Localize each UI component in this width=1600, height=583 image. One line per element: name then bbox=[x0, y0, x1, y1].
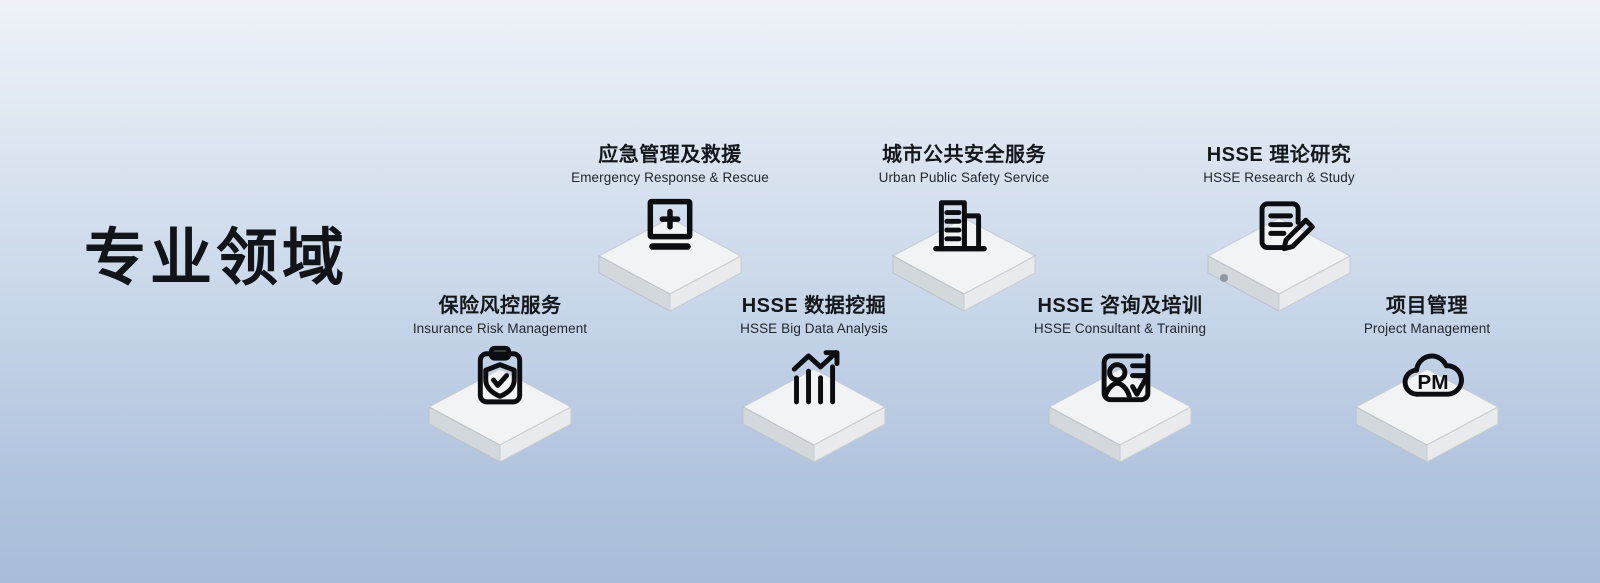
field-label-cn: 应急管理及救援 bbox=[520, 144, 820, 166]
field-icon-area bbox=[664, 345, 964, 465]
field-icon-area: PM bbox=[1277, 345, 1577, 465]
field-item-labels: 保险风控服务 Insurance Risk Management bbox=[350, 295, 650, 337]
field-item-labels: 应急管理及救援 Emergency Response & Rescue bbox=[520, 144, 820, 186]
field-item-labels: 项目管理 Project Management bbox=[1277, 295, 1577, 337]
field-label-en: Urban Public Safety Service bbox=[814, 170, 1114, 186]
field-label-en: Insurance Risk Management bbox=[350, 321, 650, 337]
field-item-urban-public-safety[interactable]: 城市公共安全服务 Urban Public Safety Service bbox=[814, 144, 1114, 314]
professional-fields-banner: 专业领域 应急管理及救援 Emergency Response & Rescue bbox=[0, 0, 1600, 583]
field-item-labels: HSSE 数据挖掘 HSSE Big Data Analysis bbox=[664, 295, 964, 337]
bar-chart-trend-icon bbox=[779, 345, 849, 415]
field-item-hsse-consultant[interactable]: HSSE 咨询及培训 HSSE Consultant & Training bbox=[970, 295, 1270, 465]
field-icon-area bbox=[970, 345, 1270, 465]
field-label-en: Project Management bbox=[1277, 321, 1577, 337]
field-label-en: Emergency Response & Rescue bbox=[520, 170, 820, 186]
field-item-labels: HSSE 咨询及培训 HSSE Consultant & Training bbox=[970, 295, 1270, 337]
field-label-en: HSSE Consultant & Training bbox=[970, 321, 1270, 337]
field-label-cn: HSSE 数据挖掘 bbox=[664, 295, 964, 317]
field-item-project-management[interactable]: 项目管理 Project Management PM bbox=[1277, 295, 1577, 465]
clipboard-shield-check-icon bbox=[465, 345, 535, 415]
document-pencil-icon bbox=[1250, 194, 1320, 264]
field-label-en: HSSE Research & Study bbox=[1129, 170, 1429, 186]
field-label-cn: 项目管理 bbox=[1277, 295, 1577, 317]
field-label-cn: 城市公共安全服务 bbox=[814, 144, 1114, 166]
field-item-insurance-risk[interactable]: 保险风控服务 Insurance Risk Management bbox=[350, 295, 650, 465]
field-item-labels: HSSE 理论研究 HSSE Research & Study bbox=[1129, 144, 1429, 186]
field-item-hsse-big-data[interactable]: HSSE 数据挖掘 HSSE Big Data Analysis bbox=[664, 295, 964, 465]
field-label-cn: HSSE 咨询及培训 bbox=[970, 295, 1270, 317]
field-item-hsse-research[interactable]: HSSE 理论研究 HSSE Research & Study bbox=[1129, 144, 1429, 314]
field-icon-area bbox=[350, 345, 650, 465]
field-item-emergency-response[interactable]: 应急管理及救援 Emergency Response & Rescue bbox=[520, 144, 820, 314]
field-label-cn: 保险风控服务 bbox=[350, 295, 650, 317]
field-label-cn: HSSE 理论研究 bbox=[1129, 144, 1429, 166]
monitor-plus-icon bbox=[635, 194, 705, 264]
cloud-pm-icon: PM bbox=[1398, 345, 1468, 415]
buildings-icon bbox=[925, 194, 995, 264]
field-item-labels: 城市公共安全服务 Urban Public Safety Service bbox=[814, 144, 1114, 186]
field-label-en: HSSE Big Data Analysis bbox=[664, 321, 964, 337]
cloud-pm-label: PM bbox=[1417, 371, 1448, 394]
id-card-person-icon bbox=[1091, 345, 1161, 415]
page-title: 专业领域 bbox=[84, 228, 348, 290]
